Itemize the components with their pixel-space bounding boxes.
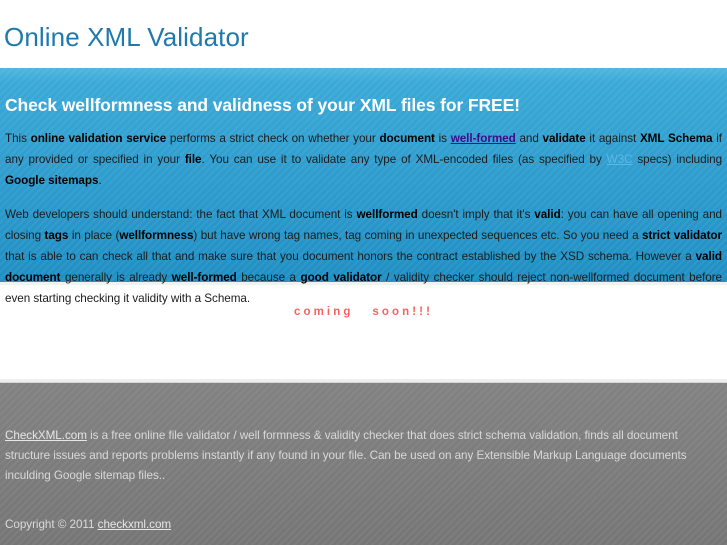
emphasis-strict-validator: strict validator — [642, 229, 722, 242]
emphasis-document: document — [379, 132, 434, 145]
emphasis-well-formed: well-formed — [172, 271, 237, 284]
hero-banner: Check wellformness and validness of your… — [0, 68, 727, 285]
page-root: Online XML Validator Check wellformness … — [0, 0, 727, 545]
text-segment: is — [435, 132, 451, 145]
page-title: Online XML Validator — [4, 17, 249, 52]
text-segment: generally is already — [60, 271, 171, 284]
text-segment: in place ( — [68, 229, 119, 242]
emphasis-valid: valid — [534, 208, 560, 221]
text-segment: Web developers should understand: the fa… — [5, 208, 357, 221]
hero-heading: Check wellformness and validness of your… — [5, 68, 722, 128]
link-w3c[interactable]: W3C — [607, 153, 633, 166]
emphasis-tags: tags — [45, 229, 69, 242]
link-checkxml-com-footer[interactable]: checkxml.com — [98, 518, 171, 531]
text-segment: doesn't imply that it's — [418, 208, 535, 221]
link-checkxml-com[interactable]: CheckXML.com — [5, 429, 87, 442]
text-segment: This — [5, 132, 31, 145]
text-segment: is a free online file validator / well f… — [5, 429, 687, 482]
text-segment: it against — [586, 132, 640, 145]
footer-description: CheckXML.com is a free online file valid… — [5, 383, 722, 486]
emphasis-validate: validate — [543, 132, 586, 145]
link-well-formed[interactable]: well-formed — [451, 132, 516, 145]
site-footer: CheckXML.com is a free online file valid… — [0, 382, 727, 545]
text-segment: . You can use it to validate any type of… — [202, 153, 607, 166]
hero-paragraph-2: Web developers should understand: the fa… — [5, 204, 722, 309]
emphasis-file: file — [185, 153, 202, 166]
emphasis-wellformness: wellformness — [119, 229, 193, 242]
footer-copyright: Copyright © 2011 checkxml.com — [5, 486, 722, 535]
text-segment: Copyright © 2011 — [5, 518, 98, 531]
emphasis-xml-schema: XML Schema — [640, 132, 713, 145]
text-segment: specs) including — [632, 153, 722, 166]
text-segment: that is able to can check all that and m… — [5, 250, 696, 263]
text-segment: because a — [237, 271, 301, 284]
text-segment: performs a strict check on whether your — [166, 132, 379, 145]
text-segment: . — [98, 174, 101, 187]
emphasis-google-sitemaps: Google sitemaps — [5, 174, 98, 187]
emphasis-online-validation-service: online validation service — [31, 132, 167, 145]
site-header: Online XML Validator — [0, 0, 727, 68]
text-segment: and — [516, 132, 543, 145]
emphasis-wellformed: wellformed — [357, 208, 418, 221]
emphasis-good-validator: good validator — [301, 271, 382, 284]
text-segment: ) but have wrong tag names, tag coming i… — [193, 229, 642, 242]
hero-paragraph-1: This online validation service performs … — [5, 128, 722, 191]
